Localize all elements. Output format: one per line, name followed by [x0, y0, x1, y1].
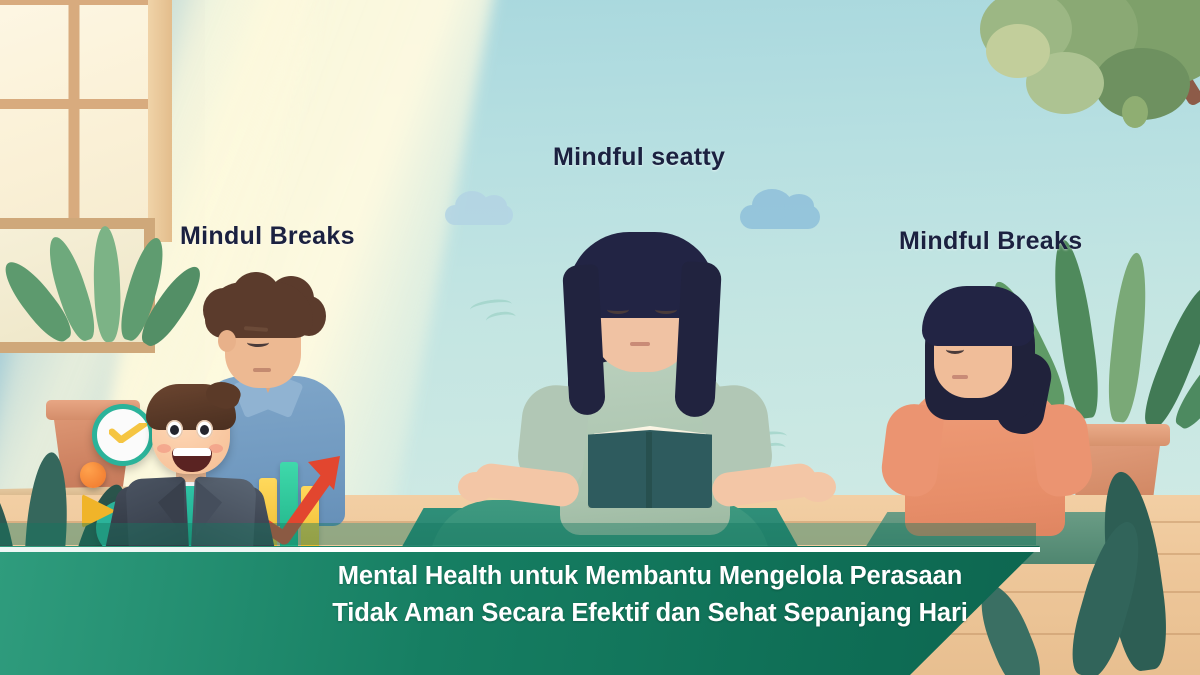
closed-eye-icon	[247, 338, 269, 347]
window	[0, 0, 161, 237]
banner-rule	[300, 547, 1040, 552]
banner-title-text: Mental Health untuk Membantu Mengelola P…	[300, 558, 1000, 632]
clock-checkmark-icon	[92, 404, 154, 466]
book-spine	[646, 432, 652, 508]
banner-title-line-2: Tidak Aman Secara Efektif dan Sehat Sepa…	[300, 595, 1000, 632]
window-frame-right	[148, 0, 172, 242]
label-mindful-breaks-left: Mindul Breaks	[180, 222, 355, 251]
closed-eye-icon	[655, 305, 677, 314]
window-mullion-vertical	[68, 5, 79, 224]
banner-rule-left	[0, 547, 300, 552]
window-mullion-horizontal	[0, 99, 148, 109]
cloud-icon	[740, 205, 820, 229]
orange-ball-3d	[80, 462, 106, 488]
label-mindful-seatty: Mindful seatty	[553, 143, 725, 172]
tree-leaf	[1122, 96, 1148, 128]
banner-title-line-1: Mental Health untuk Membantu Mengelola P…	[300, 558, 1000, 595]
closed-eye-icon	[946, 345, 964, 354]
thumbnail-stage: Mindul Breaks Mindful seatty Mindful Bre…	[0, 0, 1200, 675]
closed-eye-icon	[607, 305, 629, 314]
tree-foliage	[986, 24, 1050, 78]
cloud-icon	[445, 205, 513, 225]
label-mindful-breaks-right: Mindful Breaks	[899, 227, 1082, 256]
banner-green-wash	[0, 523, 1036, 545]
